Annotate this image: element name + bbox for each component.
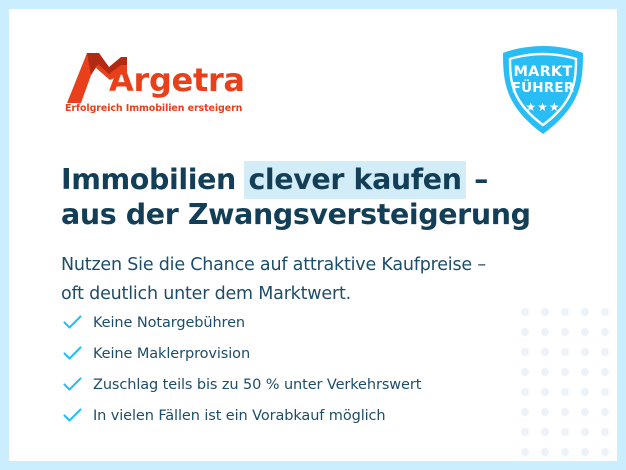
decorative-dot xyxy=(601,388,609,396)
decorative-dot xyxy=(601,308,609,316)
check-icon xyxy=(63,406,93,426)
decorative-dot xyxy=(601,368,609,376)
decorative-dot xyxy=(561,408,569,416)
decorative-dot xyxy=(541,328,549,336)
decorative-dot xyxy=(581,428,589,436)
decorative-dot xyxy=(561,368,569,376)
decorative-dot xyxy=(601,348,609,356)
check-icon xyxy=(63,313,93,333)
headline-line-1: Immobilien clever kaufen – xyxy=(61,163,488,196)
subheading: Nutzen Sie die Chance auf attraktive Kau… xyxy=(61,251,561,309)
shield-icon xyxy=(498,44,588,136)
decorative-dot xyxy=(581,368,589,376)
logo-wordmark: Argetra xyxy=(109,64,245,96)
decorative-dot xyxy=(561,308,569,316)
list-item: In vielen Fällen ist ein Vorabkauf mögli… xyxy=(63,400,533,431)
decorative-dot xyxy=(601,328,609,336)
benefits-list: Keine Notargebühren Keine Maklerprovisio… xyxy=(63,307,533,431)
decorative-dot xyxy=(541,448,549,456)
decorative-dot xyxy=(561,328,569,336)
list-item-label: Keine Notargebühren xyxy=(93,315,245,331)
decorative-dot xyxy=(581,448,589,456)
decorative-dot xyxy=(561,388,569,396)
check-icon xyxy=(63,375,93,395)
headline-highlight: clever kaufen xyxy=(244,161,465,199)
dot-grid-decoration xyxy=(521,308,617,461)
headline-line-2: aus der Zwangsversteigerung xyxy=(61,198,531,231)
decorative-dot xyxy=(541,408,549,416)
decorative-dot xyxy=(601,428,609,436)
list-item: Zuschlag teils bis zu 50 % unter Verkehr… xyxy=(63,369,533,400)
check-icon xyxy=(63,344,93,364)
market-leader-badge: MARKT FÜHRER ★★★ xyxy=(498,44,588,136)
decorative-dot xyxy=(561,428,569,436)
decorative-dot xyxy=(541,428,549,436)
decorative-dot xyxy=(581,308,589,316)
list-item: Keine Notargebühren xyxy=(63,307,533,338)
headline-prefix: Immobilien xyxy=(61,163,245,196)
decorative-dot xyxy=(601,408,609,416)
list-item-label: Keine Maklerprovision xyxy=(93,346,250,362)
page-title: Immobilien clever kaufen – aus der Zwang… xyxy=(61,162,561,232)
decorative-dot xyxy=(601,448,609,456)
logo-tagline: Erfolgreich Immobilien ersteigern xyxy=(65,103,242,114)
decorative-dot xyxy=(581,348,589,356)
argetra-logo: Argetra Erfolgreich Immobilien ersteiger… xyxy=(65,53,255,115)
list-item-label: In vielen Fällen ist ein Vorabkauf mögli… xyxy=(93,408,386,424)
decorative-dot xyxy=(541,308,549,316)
decorative-dot xyxy=(541,368,549,376)
decorative-dot xyxy=(561,448,569,456)
promo-banner: Argetra Erfolgreich Immobilien ersteiger… xyxy=(0,0,626,470)
decorative-dot xyxy=(521,448,529,456)
decorative-dot xyxy=(561,348,569,356)
promo-card: Argetra Erfolgreich Immobilien ersteiger… xyxy=(9,9,617,461)
list-item-label: Zuschlag teils bis zu 50 % unter Verkehr… xyxy=(93,377,421,393)
decorative-dot xyxy=(581,408,589,416)
list-item: Keine Maklerprovision xyxy=(63,338,533,369)
decorative-dot xyxy=(581,328,589,336)
decorative-dot xyxy=(581,388,589,396)
decorative-dot xyxy=(541,348,549,356)
decorative-dot xyxy=(541,388,549,396)
headline-suffix: – xyxy=(465,163,488,196)
subheading-line-1: Nutzen Sie die Chance auf attraktive Kau… xyxy=(61,255,486,275)
subheading-line-2: oft deutlich unter dem Marktwert. xyxy=(61,284,351,304)
